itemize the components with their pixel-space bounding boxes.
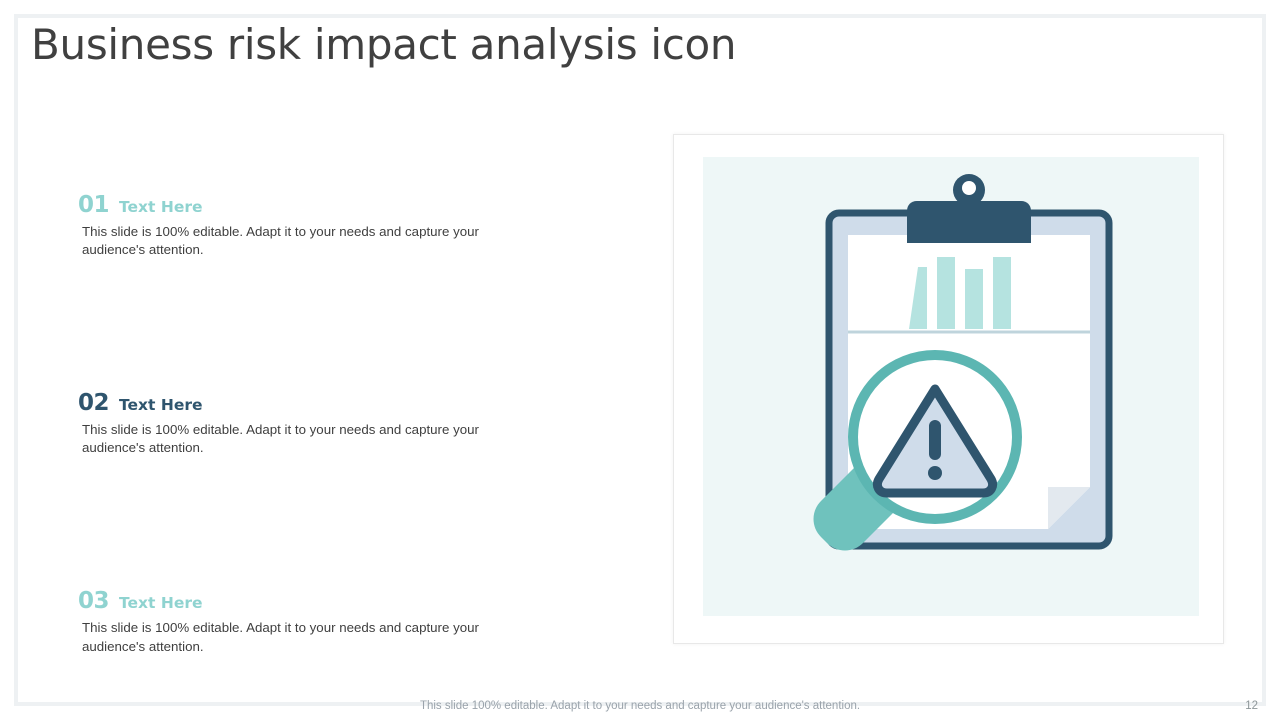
list-item-label: Text Here xyxy=(119,396,202,414)
illustration-background xyxy=(703,157,1199,616)
clipboard-with-magnifier-warning-icon xyxy=(703,157,1199,616)
list-item: 01 Text Here This slide is 100% editable… xyxy=(78,192,548,260)
list-spacer xyxy=(78,260,548,390)
footer-note: This slide 100% editable. Adapt it to yo… xyxy=(0,700,1280,712)
slide-canvas: Business risk impact analysis icon 01 Te… xyxy=(0,0,1280,720)
list-item-body: This slide is 100% editable. Adapt it to… xyxy=(82,421,534,458)
illustration-frame xyxy=(673,134,1224,644)
list-item-label: Text Here xyxy=(119,594,202,612)
page-number: 12 xyxy=(1245,700,1258,712)
list-item-body: This slide is 100% editable. Adapt it to… xyxy=(82,619,534,656)
list-item-number: 03 xyxy=(78,588,109,614)
list-item-header: 01 Text Here xyxy=(78,192,548,218)
list-item: 02 Text Here This slide is 100% editable… xyxy=(78,390,548,458)
page-title: Business risk impact analysis icon xyxy=(31,20,736,69)
clipboard-clip-icon xyxy=(907,174,1031,243)
list-item: 03 Text Here This slide is 100% editable… xyxy=(78,588,548,656)
list-item-header: 02 Text Here xyxy=(78,390,548,416)
list-item-number: 01 xyxy=(78,192,109,218)
slide-border-top xyxy=(14,14,1266,18)
slide-border-left xyxy=(14,14,18,706)
list-item-header: 03 Text Here xyxy=(78,588,548,614)
content-list: 01 Text Here This slide is 100% editable… xyxy=(78,192,548,656)
list-item-label: Text Here xyxy=(119,198,202,216)
list-item-body: This slide is 100% editable. Adapt it to… xyxy=(82,223,534,260)
slide-border-right xyxy=(1262,14,1266,706)
list-spacer xyxy=(78,457,548,588)
list-item-number: 02 xyxy=(78,390,109,416)
